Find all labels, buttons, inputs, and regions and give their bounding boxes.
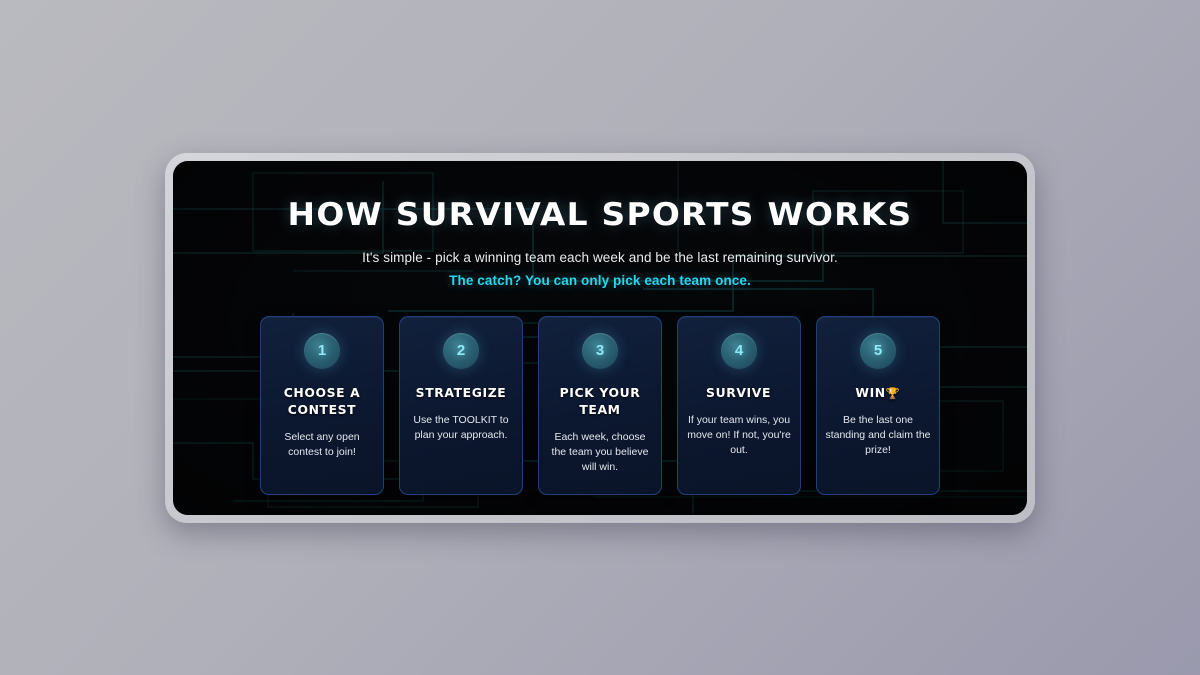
steps-list: 1 CHOOSE A CONTEST Select any open conte… bbox=[173, 316, 1027, 495]
step-card-1[interactable]: 1 CHOOSE A CONTEST Select any open conte… bbox=[260, 316, 384, 495]
step-title: WIN🏆 bbox=[849, 385, 907, 402]
device-frame: HOW SURVIVAL SPORTS WORKS It's simple - … bbox=[165, 153, 1035, 523]
step-number-badge: 3 bbox=[582, 333, 618, 369]
page-title: HOW SURVIVAL SPORTS WORKS bbox=[173, 197, 1027, 233]
step-card-2[interactable]: 2 STRATEGIZE Use the TOOLKIT to plan you… bbox=[399, 316, 523, 495]
step-title-text: WIN bbox=[855, 386, 885, 400]
step-description: If your team wins, you move on! If not, … bbox=[678, 413, 800, 459]
step-title-text: STRATEGIZE bbox=[416, 386, 507, 400]
step-description: Be the last one standing and claim the p… bbox=[817, 413, 939, 459]
step-card-5[interactable]: 5 WIN🏆 Be the last one standing and clai… bbox=[816, 316, 940, 495]
step-title: PICK YOUR TEAM bbox=[537, 385, 663, 419]
step-number-badge: 2 bbox=[443, 333, 479, 369]
header: HOW SURVIVAL SPORTS WORKS It's simple - … bbox=[173, 161, 1027, 288]
step-title: STRATEGIZE bbox=[409, 385, 512, 402]
step-description: Each week, choose the team you believe w… bbox=[539, 430, 661, 476]
step-title-text: SURVIVE bbox=[707, 386, 772, 400]
step-number-badge: 4 bbox=[721, 333, 757, 369]
step-card-4[interactable]: 4 SURVIVE If your team wins, you move on… bbox=[677, 316, 801, 495]
step-title: SURVIVE bbox=[700, 385, 777, 402]
trophy-icon: 🏆 bbox=[886, 387, 901, 400]
panel-screen: HOW SURVIVAL SPORTS WORKS It's simple - … bbox=[173, 161, 1027, 515]
subtitle-text: It's simple - pick a winning team each w… bbox=[173, 250, 1027, 265]
step-title: CHOOSE A CONTEST bbox=[259, 385, 385, 419]
step-number-badge: 5 bbox=[860, 333, 896, 369]
step-card-3[interactable]: 3 PICK YOUR TEAM Each week, choose the t… bbox=[538, 316, 662, 495]
step-description: Use the TOOLKIT to plan your approach. bbox=[400, 413, 522, 443]
step-title-text: PICK YOUR TEAM bbox=[560, 386, 641, 417]
step-number-badge: 1 bbox=[304, 333, 340, 369]
step-description: Select any open contest to join! bbox=[261, 430, 383, 460]
step-title-text: CHOOSE A CONTEST bbox=[284, 386, 361, 417]
catch-line-text: The catch? You can only pick each team o… bbox=[173, 273, 1027, 288]
